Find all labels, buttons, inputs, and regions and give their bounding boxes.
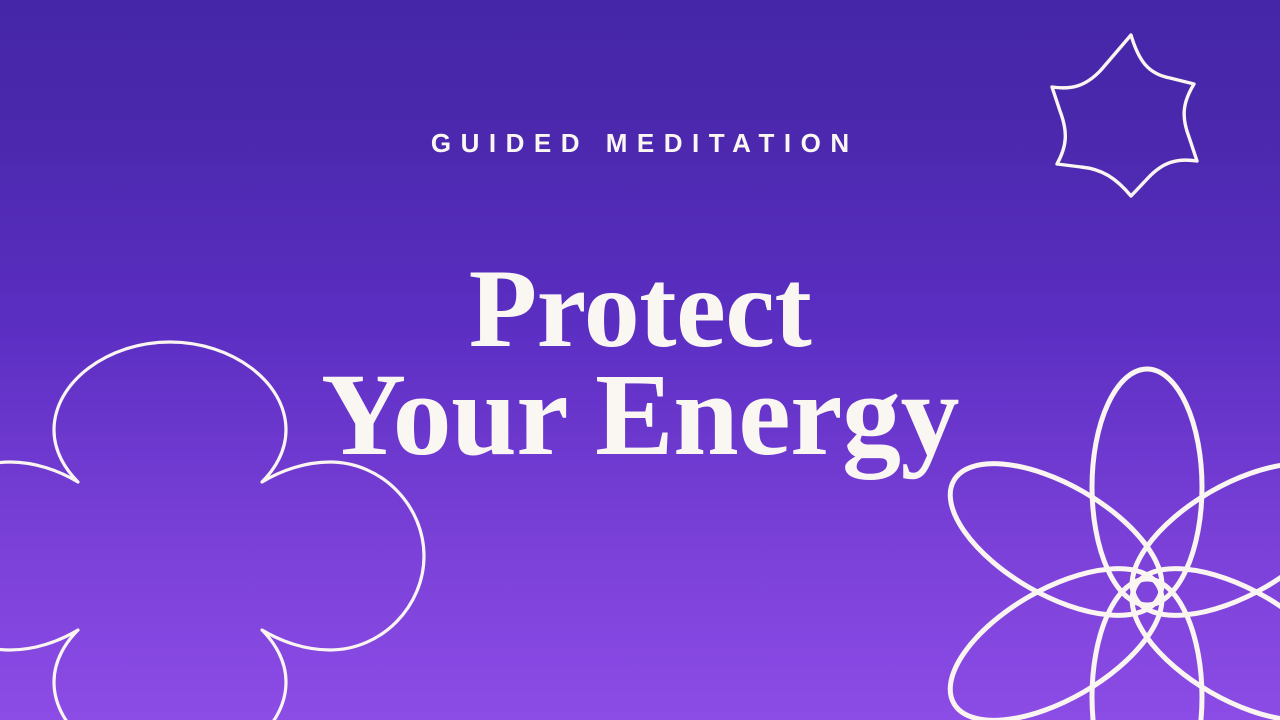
text-layer: GUIDED MEDITATION Protect Your Energy bbox=[0, 0, 1280, 720]
eyebrow-label: GUIDED MEDITATION bbox=[0, 126, 1280, 160]
title-line-1: Protect bbox=[0, 256, 1280, 362]
title-line-2: Your Energy bbox=[0, 362, 1280, 468]
meditation-title-slide: GUIDED MEDITATION Protect Your Energy bbox=[0, 0, 1280, 720]
page-title: Protect Your Energy bbox=[0, 256, 1280, 468]
